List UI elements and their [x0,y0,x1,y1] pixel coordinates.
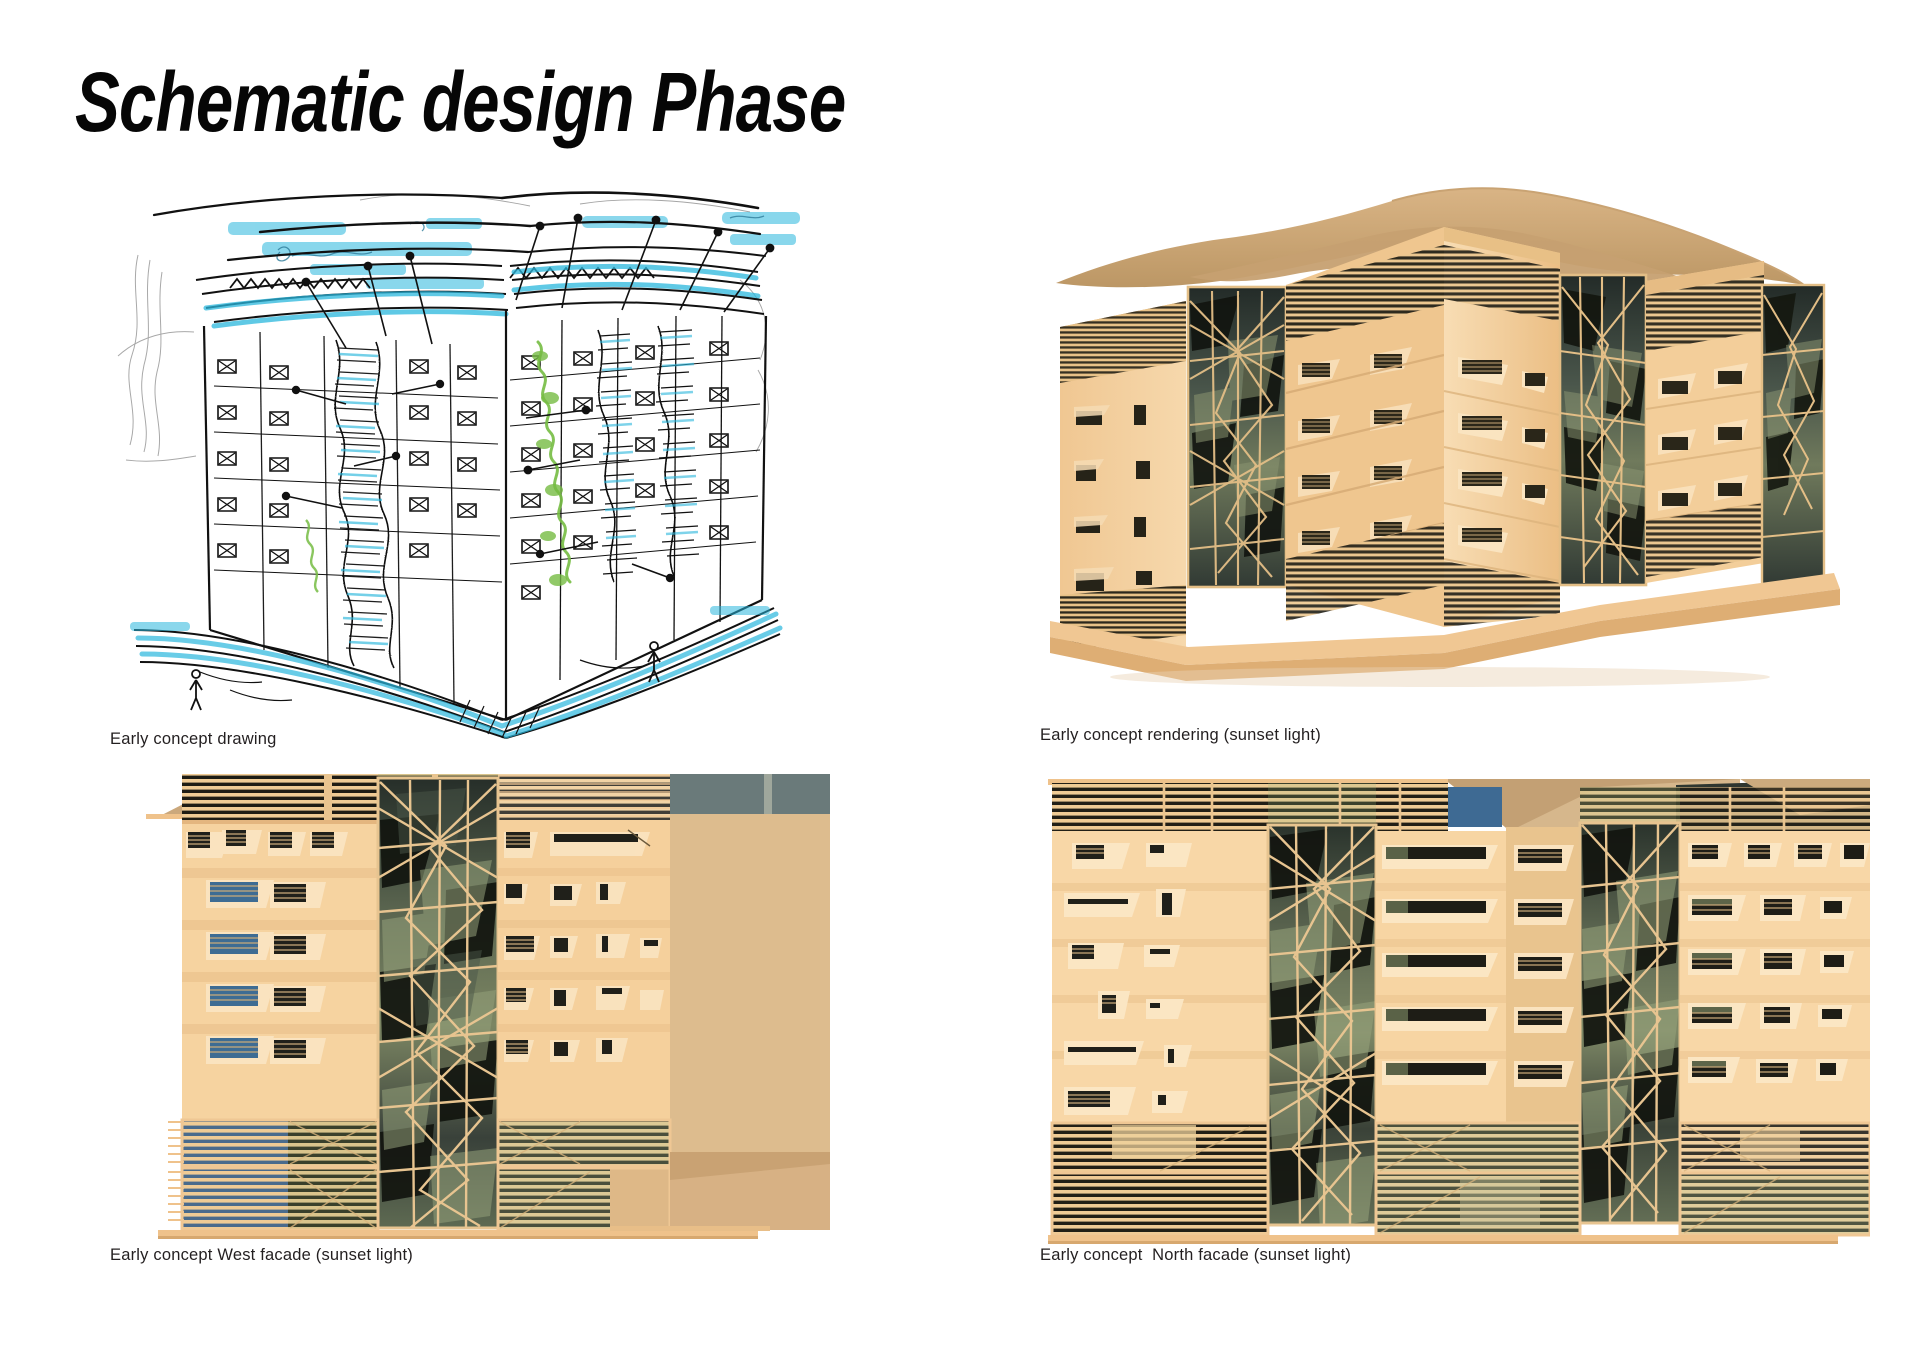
caption-early-concept-west-facade: Early concept West facade (sunset light) [110,1246,413,1265]
caption-early-concept-north-facade: Early concept North facade (sunset light… [1040,1246,1351,1265]
rendering-artwork [1040,165,1850,725]
presentation-board: Schematic design Phase [0,0,1920,1358]
early-concept-rendering-image [1040,165,1850,725]
caption-early-concept-rendering: Early concept rendering (sunset light) [1040,726,1321,745]
early-concept-drawing-image [110,160,810,740]
sketch-canvas [110,160,810,740]
early-concept-north-facade-image [1040,765,1870,1255]
page-title: Schematic design Phase [75,56,845,148]
north-facade-artwork [1040,765,1870,1255]
west-facade-artwork [110,760,830,1260]
caption-early-concept-drawing: Early concept drawing [110,730,277,749]
sketch-artwork [110,160,810,740]
early-concept-west-facade-image [110,760,830,1260]
